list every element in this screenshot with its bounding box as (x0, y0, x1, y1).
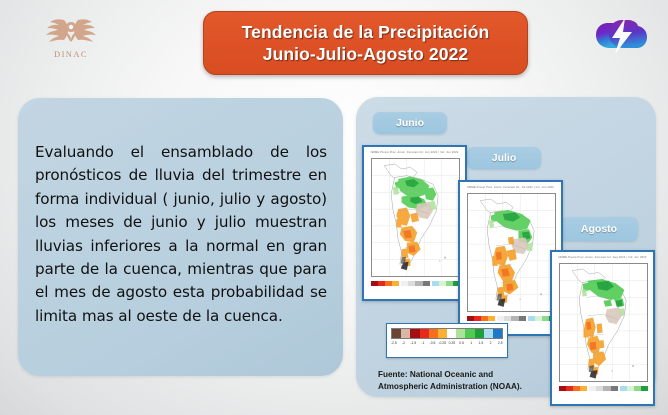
cbar-warm-julio (467, 316, 495, 321)
map-title-agosto: NMME Precip Prec. Anom. Forecast for: Au… (552, 256, 653, 259)
summary-body-text: Evaluando el ensamblado de los pronóstic… (35, 141, 327, 328)
legend-tick-0: -2.5 (389, 341, 399, 345)
cloud-lightning-logo (592, 10, 650, 62)
map-plot-agosto (559, 263, 648, 382)
legend-swatch-2 (410, 329, 419, 338)
legend-tick-4: -0.5 (428, 341, 438, 345)
map-colorbar-junio (371, 281, 460, 295)
cbar-neutral-agosto (589, 386, 617, 391)
legend-tick-11: 2.5 (495, 341, 505, 345)
legend-swatch-11 (493, 329, 502, 338)
title-line-2: Junio-Julio-Agosto 2022 (263, 43, 469, 65)
cbar-cool-agosto (620, 386, 648, 391)
legend-swatch-4 (429, 329, 438, 338)
legend-tick-2: -1.5 (408, 341, 418, 345)
dinac-logo-text: DINAC (54, 49, 88, 59)
month-tag-junio: Junio (373, 112, 447, 134)
cbar-cool-junio (432, 281, 460, 286)
cbar-warm-junio (371, 281, 399, 286)
legend-tick-6: 0.25 (447, 341, 457, 345)
legend-tick-10: 2 (486, 341, 496, 345)
precipitation-anomaly-legend: -2.5-2-1.5-1-0.5-0.250.250.511.522.5 (386, 323, 508, 358)
map-card-julio[interactable]: NMME Precip Prec. Anom. Forecast for: Ju… (458, 180, 563, 336)
month-tag-julio: Julio (467, 147, 541, 169)
month-tag-julio-label: Julio (492, 152, 517, 164)
map-plot-junio (371, 158, 460, 277)
legend-swatch-5 (438, 329, 447, 338)
legend-tick-labels: -2.5-2-1.5-1-0.5-0.250.250.511.522.5 (389, 341, 505, 353)
legend-tick-9: 1.5 (476, 341, 486, 345)
dinac-winged-emblem-logo: DINAC (34, 12, 108, 64)
legend-color-swatches (391, 328, 503, 339)
legend-tick-8: 1 (466, 341, 476, 345)
cbar-neutral-junio (401, 281, 429, 286)
source-line-1: Fuente: National Oceanic and (378, 369, 578, 381)
legend-tick-1: -2 (399, 341, 409, 345)
month-tag-junio-label: Junio (396, 117, 424, 129)
legend-swatch-10 (484, 329, 493, 338)
month-tag-agosto-label: Agosto (581, 223, 617, 235)
source-credit: Fuente: National Oceanic and Atmospheric… (378, 369, 578, 392)
legend-tick-3: -1 (418, 341, 428, 345)
map-title-junio: NMME Precip Prec. Anom. Forecast for: Ju… (364, 151, 465, 154)
legend-tick-7: 0.5 (457, 341, 467, 345)
legend-swatch-3 (420, 329, 429, 338)
legend-swatch-8 (465, 329, 474, 338)
map-card-junio[interactable]: NMME Precip Prec. Anom. Forecast for: Ju… (362, 145, 467, 301)
month-tag-agosto: Agosto (560, 217, 638, 241)
legend-swatch-6 (447, 329, 456, 338)
summary-text-panel: Evaluando el ensamblado de los pronóstic… (18, 98, 343, 376)
source-line-2: Atmospheric Administration (NOAA). (378, 381, 578, 393)
legend-tick-5: -0.25 (437, 341, 447, 345)
cbar-neutral-julio (497, 316, 525, 321)
legend-swatch-1 (401, 329, 410, 338)
slide-root: DINAC Tendenc (0, 0, 668, 415)
legend-swatch-9 (475, 329, 484, 338)
legend-swatch-7 (456, 329, 465, 338)
map-title-julio: NMME Precip Prec. Anom. Forecast for: Ju… (460, 186, 561, 189)
legend-swatch-0 (392, 329, 401, 338)
slide-title: Tendencia de la Precipitación Junio-Juli… (203, 11, 528, 75)
title-line-1: Tendencia de la Precipitación (242, 21, 490, 43)
map-plot-julio (467, 193, 556, 312)
